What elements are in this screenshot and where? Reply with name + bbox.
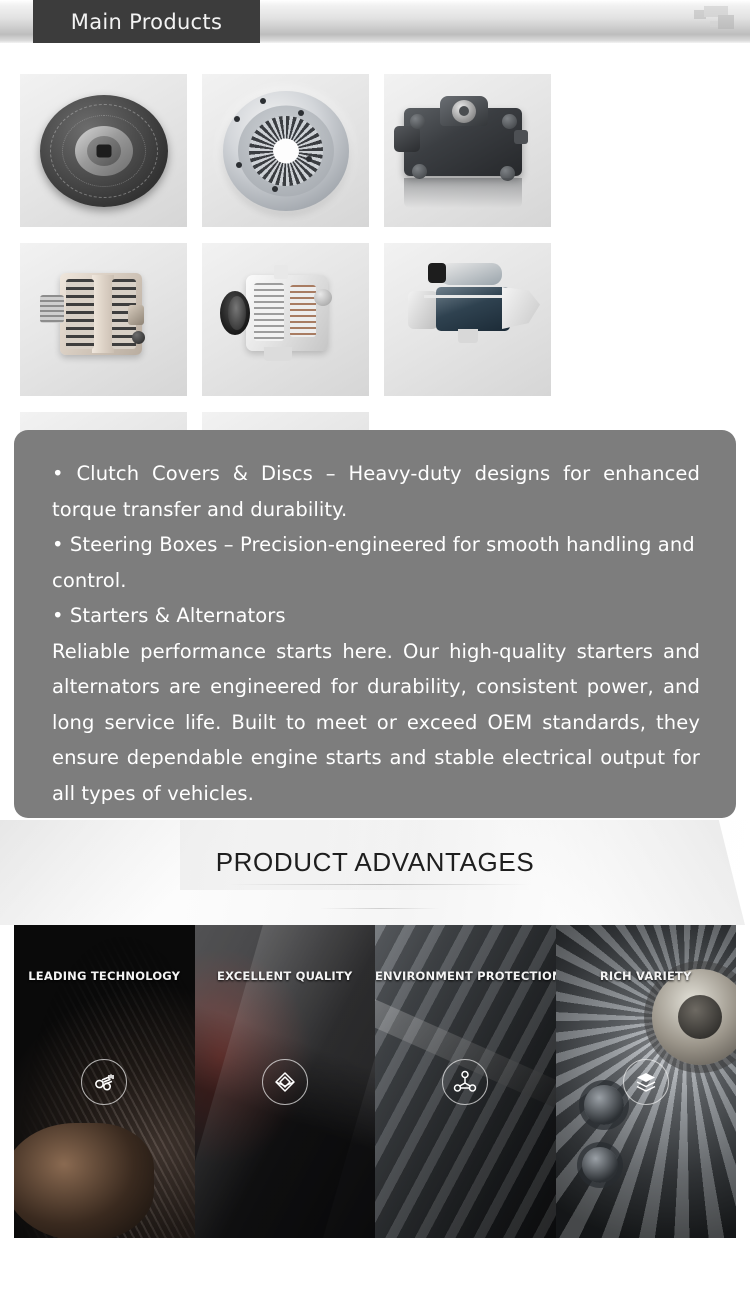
product-description-panel: • Clutch Covers & Discs – Heavy-duty des… [14, 430, 736, 818]
advantage-panel-leading-technology[interactable]: LEADING TECHNOLOGY [14, 925, 195, 1238]
diamond-layer-icon [262, 1059, 308, 1105]
clutch-disc-image [20, 74, 187, 227]
advantage-label: RICH VARIETY [556, 969, 737, 983]
product-tile-steering-box[interactable] [384, 74, 551, 227]
desc-line-steering: • Steering Boxes – Precision-engineered … [52, 527, 700, 598]
clutch-cover-image [202, 74, 369, 227]
product-tile-clutch-cover[interactable] [202, 74, 369, 227]
tab-main-products[interactable]: Main Products [33, 0, 260, 43]
steering-box-image [384, 74, 551, 227]
advantage-label: LEADING TECHNOLOGY [14, 969, 195, 983]
product-page: Main Products [0, 0, 750, 1311]
advantage-panel-excellent-quality[interactable]: EXCELLENT QUALITY [195, 925, 376, 1238]
desc-paragraph-starters: Reliable performance starts here. Our hi… [52, 634, 700, 812]
product-tile-clutch-disc[interactable] [20, 74, 187, 227]
advantage-panels: LEADING TECHNOLOGY EXCELLENT QUALITY [14, 925, 736, 1238]
advantage-label: EXCELLENT QUALITY [195, 969, 376, 983]
advantage-panel-environment-protection[interactable]: ENVIRONMENT PROTECTION [375, 925, 556, 1238]
molecule-cluster-icon [81, 1059, 127, 1105]
alternator-image [20, 243, 187, 396]
tab-main-products-label: Main Products [71, 10, 222, 34]
product-tile-alternator-pulley[interactable] [202, 243, 369, 396]
stacked-layers-icon [623, 1059, 669, 1105]
product-advantages-title: PRODUCT ADVANTAGES [0, 847, 750, 878]
desc-line-clutch: • Clutch Covers & Discs – Heavy-duty des… [52, 456, 700, 527]
page-header: Main Products [0, 0, 750, 43]
advantage-panel-rich-variety[interactable]: RICH VARIETY [556, 925, 737, 1238]
product-tile-starter-blue[interactable] [384, 243, 551, 396]
corner-ribbon-icon [694, 4, 736, 34]
node-network-icon [442, 1059, 488, 1105]
alternator-pulley-image [202, 243, 369, 396]
advantage-label: ENVIRONMENT PROTECTION [375, 969, 556, 983]
starter-motor-image [384, 243, 551, 396]
product-tile-alternator-beige[interactable] [20, 243, 187, 396]
product-advantages-banner: PRODUCT ADVANTAGES [0, 820, 750, 925]
page-footer-space [0, 1238, 750, 1311]
desc-line-starters: • Starters & Alternators [52, 598, 700, 634]
